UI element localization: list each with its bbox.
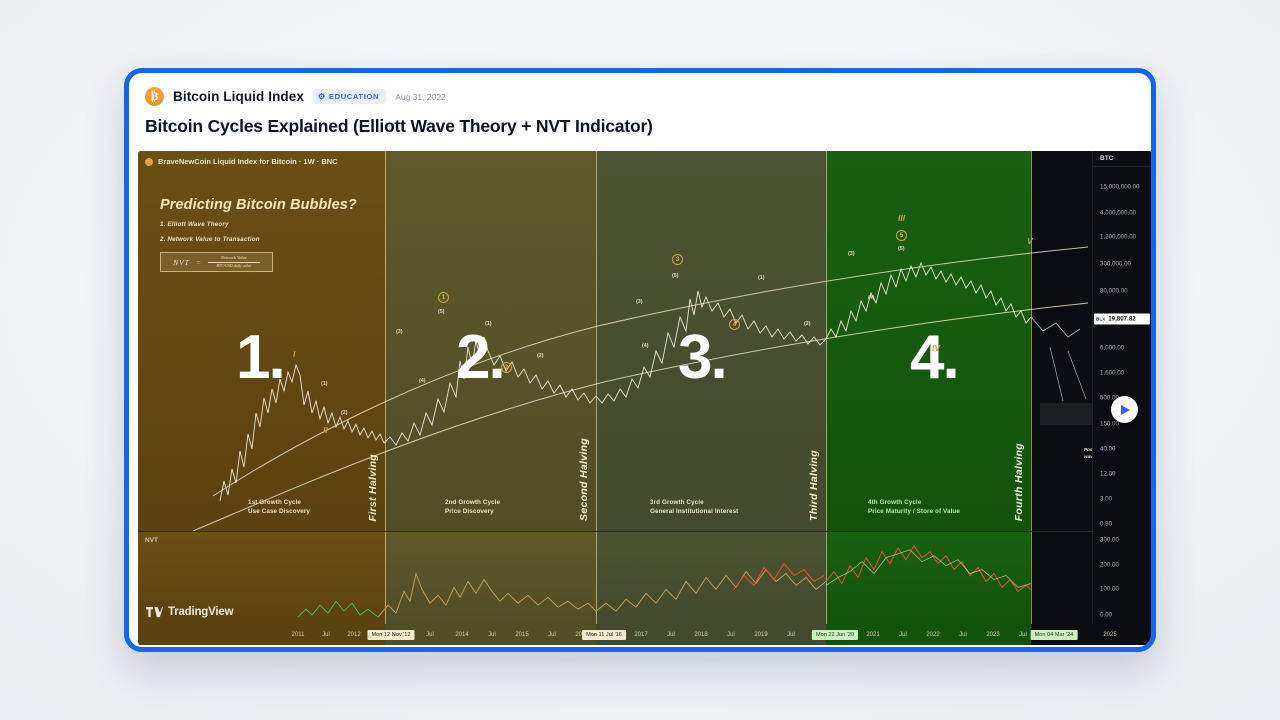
wave-sub-5c: (5) [898, 246, 905, 252]
time-tick-2023: 2023 [986, 632, 999, 638]
wave-circled-2: 2 [501, 362, 512, 373]
cycle-caption-4: 4th Growth Cycle Price Maturity / Store … [868, 498, 960, 518]
nvt-tick-0: 300.00 [1100, 537, 1119, 544]
publish-date: Aug 31, 2022 [395, 92, 446, 102]
nvt-formula: NVT = Network Value BTC/USD daily value [160, 252, 273, 272]
time-tick-2014: 2014 [455, 632, 468, 638]
cycle-caption-3-line1: 3rd Growth Cycle [650, 498, 738, 508]
symbol-dot-icon [145, 158, 153, 166]
time-tick-2012: 2012 [347, 632, 360, 638]
time-tick-2022: 2022 [926, 632, 939, 638]
price-tick-8: 150.00 [1100, 421, 1119, 428]
tradingview-mark-icon [146, 607, 163, 618]
wave-sub-2b: (2) [537, 353, 544, 359]
cycle-numeral-3: 3. [678, 327, 726, 389]
current-price-value: 19,807.82 [1108, 316, 1136, 323]
article-meta-row: ₿ Bitcoin Liquid Index ⚙ EDUCATION Aug 3… [145, 87, 1135, 106]
time-tick-jul1: Jul [322, 632, 330, 638]
time-tick-2015: 2015 [515, 632, 528, 638]
time-axis[interactable]: 2011 Jul 2012 Mon 12 Nov '12 Jul 2014 Ju… [138, 624, 1152, 645]
wave-roman-II: II [323, 425, 328, 435]
current-price-badge: BLX 19,807.82 [1094, 314, 1150, 325]
cycle-caption-1-line1: 1st Growth Cycle [248, 498, 310, 508]
price-tick-3: 300,000.00 [1100, 261, 1131, 268]
halving-label-3: Third Halving [808, 450, 820, 521]
cycle-caption-4-line1: 4th Growth Cycle [868, 498, 960, 508]
wave-sub-3c: (3) [848, 251, 855, 257]
time-tick-jul10: Jul [1019, 632, 1027, 638]
price-tick-9: 40.00 [1100, 446, 1115, 453]
wave-4-zone-note: Possible zone of where wave 4 will end [1084, 447, 1092, 461]
wave-sub-1c: (1) [758, 275, 765, 281]
halving-label-4: Fourth Halving [1013, 443, 1025, 521]
price-tick-2: 1,200,000.00 [1100, 234, 1136, 241]
cycle-caption-1-line2: Use Case Discovery [248, 507, 310, 517]
time-tick-2018: 2018 [694, 632, 707, 638]
cycle-caption-3: 3rd Growth Cycle General Institutional I… [650, 498, 738, 518]
cycle-numeral-1: 1. [236, 327, 284, 389]
current-price-ticker: BLX [1096, 317, 1105, 322]
wave-sub-4b: (4) [642, 343, 649, 349]
tradingview-chart[interactable]: BraveNewCoin Liquid Index for Bitcoin · … [138, 151, 1152, 645]
bitcoin-coin-icon: ₿ [145, 87, 164, 106]
time-tick-jul5: Jul [667, 632, 675, 638]
halving-label-1: First Halving [367, 454, 379, 522]
nvt-scale[interactable]: 300.00 200.00 100.00 0.00 [1092, 531, 1152, 624]
cycle-caption-2-line1: 2nd Growth Cycle [445, 498, 500, 508]
wave-sub-3a: (3) [396, 329, 403, 335]
wave-sub-2a: (2) [341, 410, 348, 416]
wave-sub-4a: (4) [419, 378, 426, 384]
wave-sub-1b: (1) [485, 321, 492, 327]
chart-legend: BraveNewCoin Liquid Index for Bitcoin · … [145, 157, 338, 166]
time-tick-jul7: Jul [787, 632, 795, 638]
wave-circled-5: 5 [896, 230, 907, 241]
wave-sub-5a: (5) [438, 309, 445, 315]
wave-circled-4: 4 [729, 319, 740, 330]
tradingview-logo[interactable]: TradingView [146, 606, 233, 618]
time-tick-jul9: Jul [959, 632, 967, 638]
price-tick-12: 0.80 [1100, 521, 1112, 528]
time-tick-2025: 2025 [1103, 632, 1116, 638]
nvt-tick-3: 0.00 [1100, 612, 1112, 619]
halving-badge-2: Mon 11 Jul '16 [582, 630, 626, 640]
prediction-item-1: 1. Elliott Wave Theory [160, 221, 357, 228]
cycle-numeral-4: 4. [910, 327, 958, 389]
category-badge[interactable]: ⚙ EDUCATION [313, 89, 386, 104]
prediction-overlay: Predicting Bitcoin Bubbles? 1. Elliott W… [160, 197, 357, 272]
tradingview-wordmark: TradingView [168, 606, 233, 618]
time-tick-2017: 2017 [634, 632, 647, 638]
halving-label-2: Second Halving [578, 438, 590, 521]
wave-sub-4c: (4) [868, 295, 875, 301]
nvt-series-overlay [138, 532, 1092, 624]
time-tick-jul6: Jul [727, 632, 735, 638]
price-tick-11: 3.00 [1100, 496, 1112, 503]
time-tick-2011: 2011 [292, 632, 305, 638]
halving-badge-3: Mon 22 Jun '20 [812, 630, 858, 640]
play-icon [1121, 405, 1130, 415]
wave-roman-I: I [293, 349, 295, 359]
price-scale[interactable]: BTC 15,000,000.00 4,000,000.00 1,200,000… [1092, 151, 1152, 531]
wave-circled-1: 1 [438, 292, 449, 303]
source-name[interactable]: Bitcoin Liquid Index [173, 89, 304, 104]
price-scale-header: BTC [1093, 151, 1152, 167]
nvt-formula-fraction: Network Value BTC/USD daily value [208, 256, 260, 267]
cycle-caption-3-line2: General Institutional Interest [650, 507, 738, 517]
category-badge-label: EDUCATION [329, 92, 379, 101]
play-button[interactable] [1111, 396, 1138, 423]
halving-badge-4: Mon 04 Mar '24 [1031, 630, 1078, 640]
gear-icon: ⚙ [318, 92, 326, 101]
nvt-formula-equals: = [196, 258, 202, 267]
time-tick-2021: 2021 [866, 632, 879, 638]
halving-badge-1: Mon 12 Nov '12 [367, 630, 414, 640]
nvt-formula-lhs: NVT [173, 258, 190, 267]
prediction-item-2: 2. Network Value to Transaction [160, 236, 357, 243]
cycle-caption-2: 2nd Growth Cycle Price Discovery [445, 498, 500, 518]
cycle-caption-4-line2: Price Maturity / Store of Value [868, 507, 960, 517]
wave-sub-2c: (2) [804, 321, 811, 327]
prediction-title: Predicting Bitcoin Bubbles? [160, 197, 357, 213]
article-card: ₿ Bitcoin Liquid Index ⚙ EDUCATION Aug 3… [124, 68, 1156, 652]
price-tick-1: 4,000,000.00 [1100, 210, 1136, 217]
wave-circled-3: 3 [672, 254, 683, 265]
time-tick-jul8: Jul [899, 632, 907, 638]
price-tick-4: 80,000.00 [1100, 288, 1128, 295]
price-tick-0: 15,000,000.00 [1100, 184, 1140, 191]
time-tick-jul2: Jul [426, 632, 434, 638]
cycle-caption-2-line2: Price Discovery [445, 507, 500, 517]
nvt-tick-1: 200.00 [1100, 562, 1119, 569]
nvt-tick-2: 100.00 [1100, 586, 1119, 593]
time-tick-jul3: Jul [488, 632, 496, 638]
page-title: Bitcoin Cycles Explained (Elliott Wave T… [145, 116, 1135, 137]
wave-sub-3b: (3) [636, 299, 643, 305]
wave-sub-1a: (1) [321, 381, 328, 387]
cycle-caption-1: 1st Growth Cycle Use Case Discovery [248, 498, 310, 518]
time-tick-2019: 2019 [754, 632, 767, 638]
article-header: ₿ Bitcoin Liquid Index ⚙ EDUCATION Aug 3… [129, 73, 1151, 143]
price-tick-5: 6,000.00 [1100, 345, 1124, 352]
nvt-pane[interactable]: NVT TradingView [138, 531, 1092, 624]
cycle-numeral-2: 2. [456, 327, 504, 389]
wave-roman-V: V [1027, 236, 1033, 246]
wave-roman-IV: IV [932, 343, 940, 353]
price-pane[interactable]: BraveNewCoin Liquid Index for Bitcoin · … [138, 151, 1092, 531]
wave-roman-III: III [898, 213, 905, 223]
price-tick-6: 1,600.00 [1100, 370, 1124, 377]
price-tick-10: 12.00 [1100, 471, 1115, 478]
time-tick-jul4: Jul [548, 632, 556, 638]
wave-sub-5b: (5) [672, 273, 679, 279]
nvt-formula-denominator: BTC/USD daily value [216, 263, 251, 268]
chart-legend-label: BraveNewCoin Liquid Index for Bitcoin · … [158, 157, 338, 166]
nvt-pane-label: NVT [145, 537, 158, 544]
